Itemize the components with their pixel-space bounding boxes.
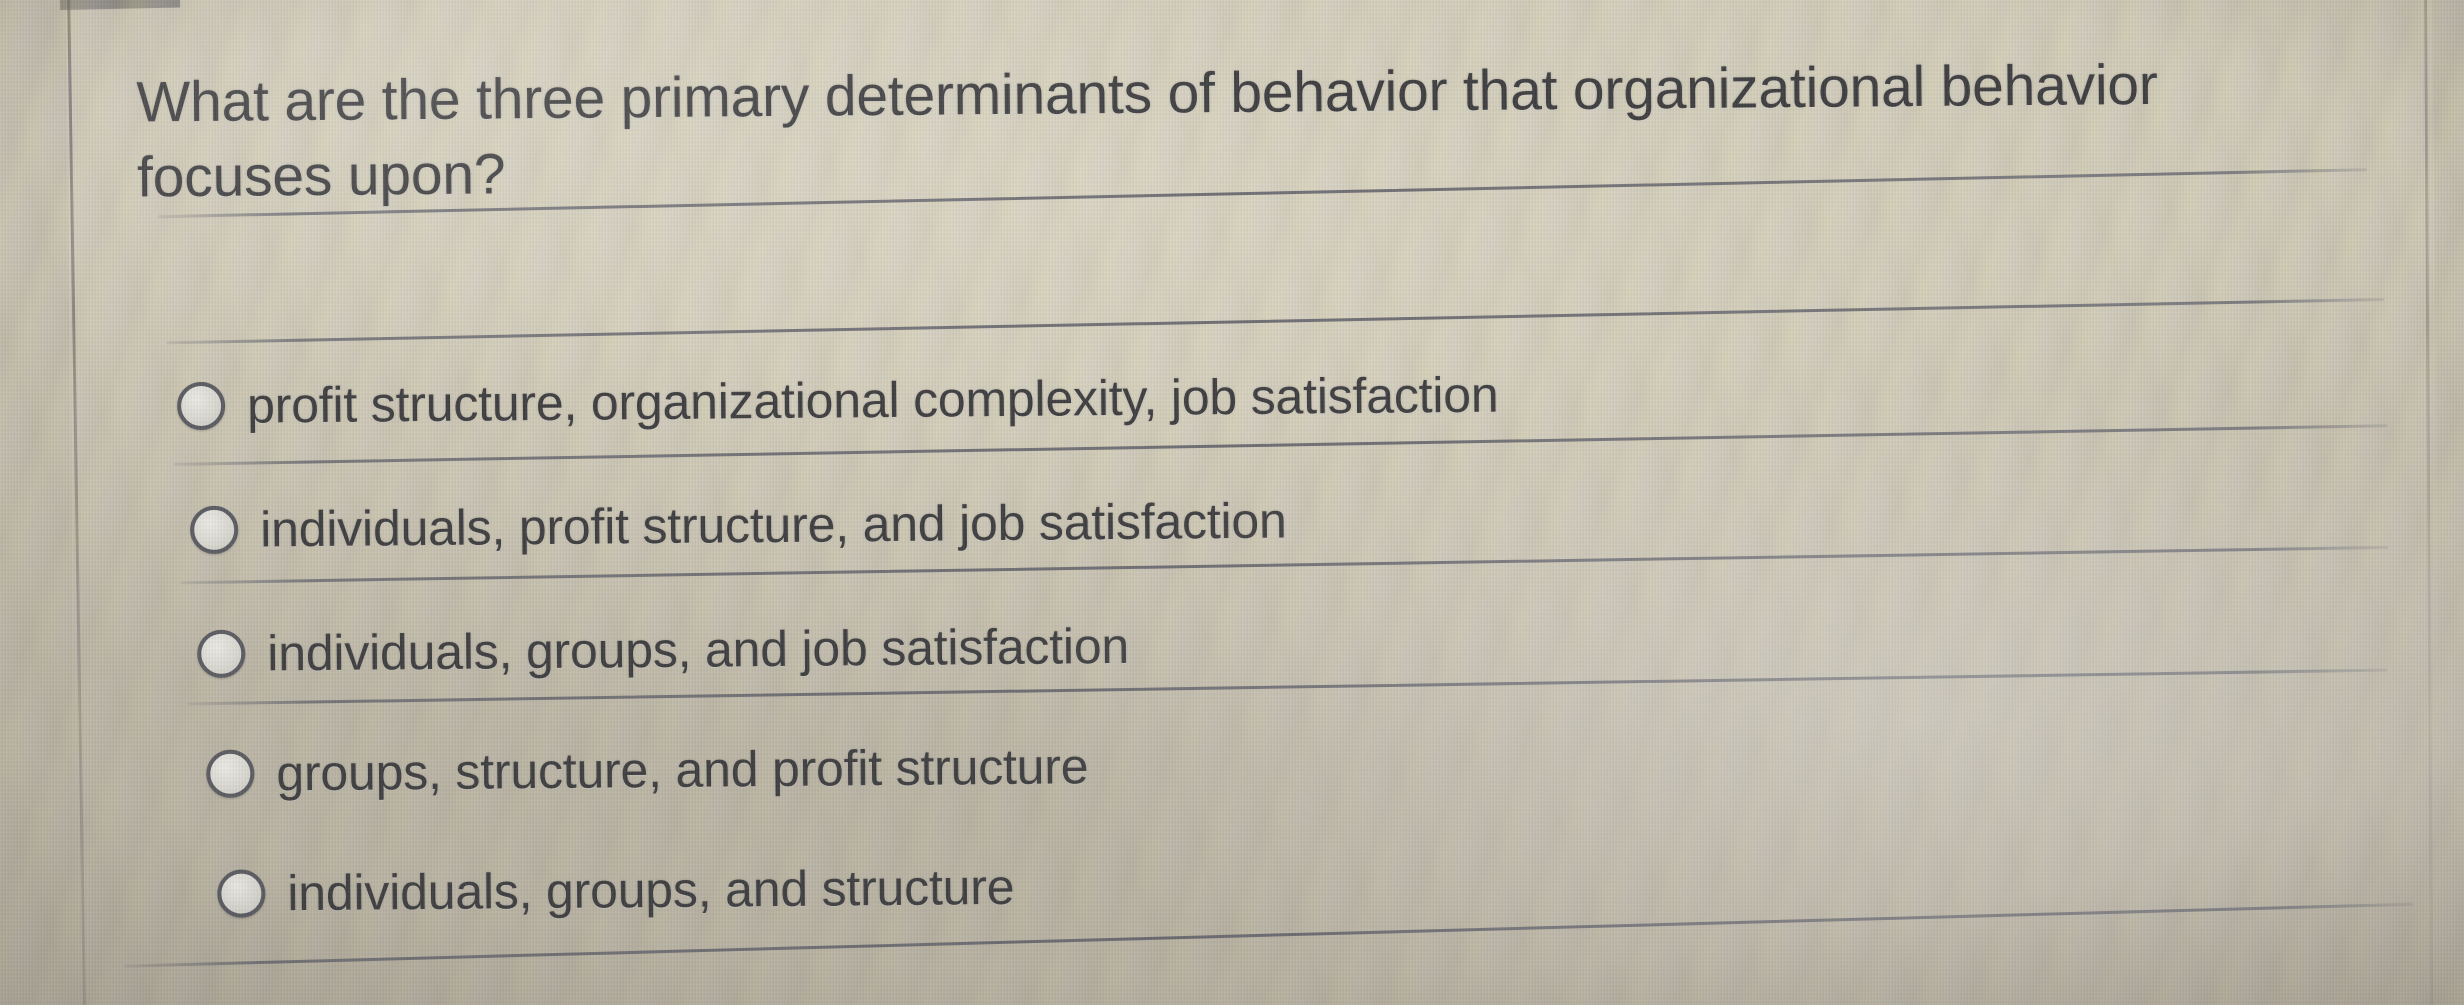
answer-option-1[interactable]: profit structure, organizational complex… [177,370,1499,432]
answer-option-5[interactable]: individuals, groups, and structure [217,862,1014,919]
quiz-content: What are the three primary determinants … [0,0,2464,1005]
answer-option-2[interactable]: individuals, profit structure, and job s… [190,496,1287,556]
answer-options-list: profit structure, organizational complex… [0,261,2462,283]
answer-option-4[interactable]: groups, structure, and profit structure [206,741,1088,799]
radio-button-icon-5[interactable] [217,869,265,917]
answer-option-label-4: groups, structure, and profit structure [276,741,1088,798]
answer-option-label-1: profit structure, organizational complex… [247,370,1499,431]
option-divider-1 [167,298,2385,344]
radio-button-icon-1[interactable] [177,382,225,430]
radio-button-icon-3[interactable] [197,630,245,678]
answer-option-3[interactable]: individuals, groups, and job satisfactio… [197,621,1129,679]
radio-button-icon-2[interactable] [190,506,238,554]
radio-button-icon-4[interactable] [206,750,254,798]
answer-option-label-3: individuals, groups, and job satisfactio… [267,621,1129,679]
answer-option-label-2: individuals, profit structure, and job s… [260,496,1287,555]
screenshot-root: What are the three primary determinants … [0,0,2464,1005]
question-text: What are the three primary determinants … [136,47,2297,216]
answer-option-label-5: individuals, groups, and structure [287,862,1014,918]
